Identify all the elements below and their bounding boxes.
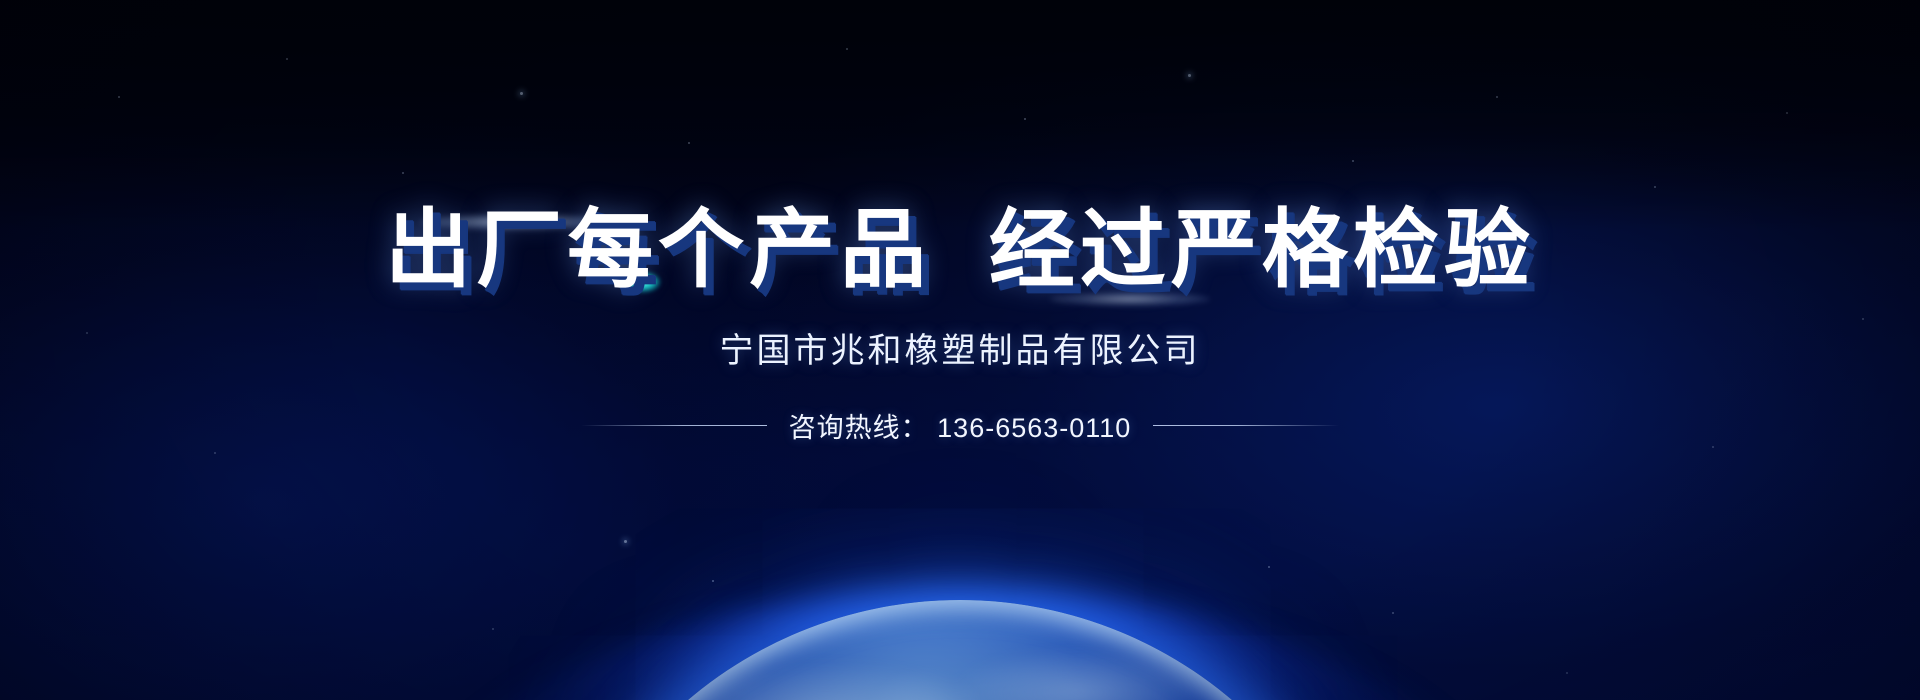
hotline-row: 咨询热线： 136-6563-0110 xyxy=(0,372,1920,445)
hotline-text: 咨询热线： 136-6563-0110 xyxy=(789,406,1132,445)
divider-line-right xyxy=(1153,425,1339,426)
company-name: 宁国市兆和橡塑制品有限公司 xyxy=(0,295,1920,372)
divider-line-left xyxy=(581,425,767,426)
banner-content: 出厂每个产品 经过严格检验 宁国市兆和橡塑制品有限公司 咨询热线： 136-65… xyxy=(0,0,1920,445)
promo-banner: 出厂每个产品 经过严格检验 宁国市兆和橡塑制品有限公司 咨询热线： 136-65… xyxy=(0,0,1920,700)
page-title: 出厂每个产品 经过严格检验 xyxy=(0,0,1920,295)
